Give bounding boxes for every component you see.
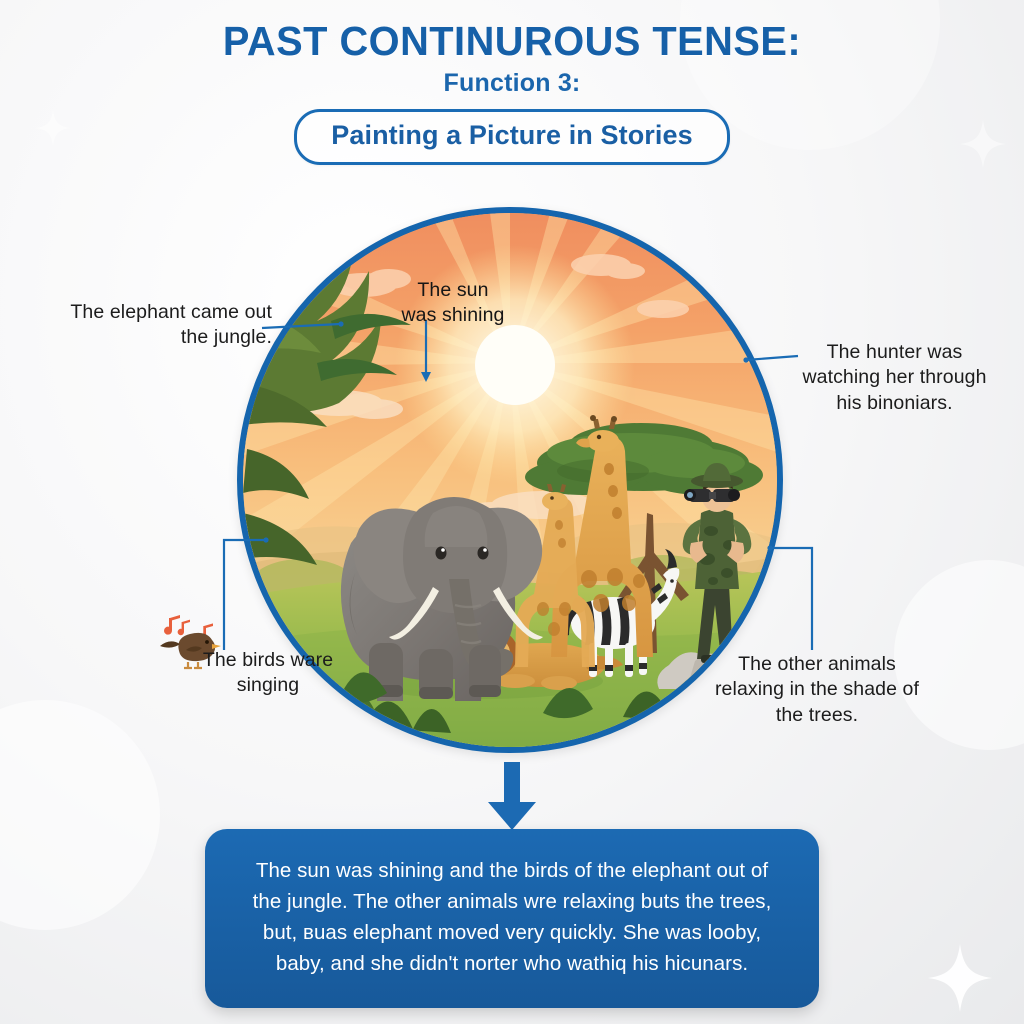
callout-elephant: The elephant came out the jungle.: [62, 300, 272, 351]
callout-animals: The other animals relaxing in the shade …: [706, 652, 928, 728]
background-blob: [0, 700, 160, 930]
sparkle-icon: [928, 944, 992, 1012]
callout-birds: The birds ware singing: [198, 648, 338, 699]
page-subtitle: Function 3:: [0, 69, 1024, 98]
callout-sun: The sun was shining: [398, 278, 508, 329]
function-pill-label: Painting a Picture in Stories: [294, 109, 729, 165]
callout-hunter: The hunter was watching her through his …: [792, 340, 997, 416]
down-arrow-icon: [482, 762, 542, 830]
header: PAST CONTINUROUS TENSE: Function 3: Pain…: [0, 0, 1024, 165]
summary-box: The sun was shining and the birds of the…: [205, 829, 819, 1008]
page-title: PAST CONTINUROUS TENSE:: [15, 20, 1008, 63]
summary-text: The sun was shining and the birds of the…: [239, 855, 785, 980]
